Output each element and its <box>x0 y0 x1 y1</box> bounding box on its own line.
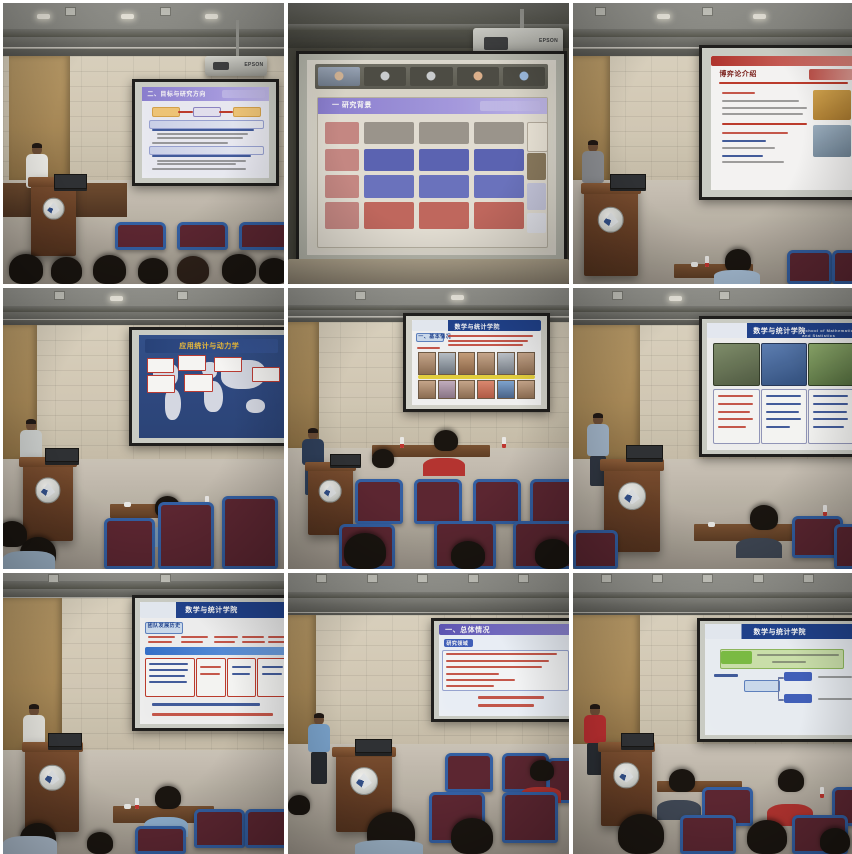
projection-screen: 数学与统计学院 School of Mathematics and Statis… <box>699 316 852 457</box>
podium <box>584 183 637 276</box>
faculty-portrait-row-1 <box>418 352 534 375</box>
meeting-tile <box>410 67 452 85</box>
faculty-portrait-row-2 <box>418 380 534 400</box>
slide-title: 数学与统计学院 <box>753 326 806 336</box>
podium-emblem-icon <box>614 763 639 788</box>
slide-logo <box>222 90 265 98</box>
slide-content: 二、目标与研究方向 <box>142 87 268 178</box>
slide-subtitle: 团队发展历史 <box>148 622 181 629</box>
podium <box>25 742 78 832</box>
laptop <box>621 733 655 750</box>
projection-screen: 一、总体情况 研究领域 <box>431 618 569 722</box>
laptop <box>48 733 82 750</box>
photo-collage-grid: EPSON 二、目标与研究方向 <box>0 0 852 854</box>
slide-content: 应用统计与动力学 <box>139 335 284 438</box>
photo-cell-7[interactable]: 数学与统计学院 团队发展历史 <box>3 573 284 854</box>
laptop <box>626 445 663 462</box>
slide-title: 二、目标与研究方向 <box>147 89 206 98</box>
slide-content: 一、总体情况 研究领域 <box>439 624 570 716</box>
slide-title: 一 研究背景 <box>332 100 372 110</box>
projector: EPSON <box>205 56 267 76</box>
slide-title: 一、总体情况 <box>445 625 490 635</box>
projection-screen: 一 研究背景 <box>296 51 566 265</box>
meeting-tile <box>503 67 545 85</box>
podium <box>23 457 74 541</box>
slide-subtitle: School of Mathematics and Statistics <box>802 328 852 338</box>
projection-screen: 数学与统计学院 一、基本情况 <box>403 313 550 412</box>
photo-cell-9[interactable]: 数学与统计学院 <box>573 573 852 854</box>
projection-screen: 应用统计与动力学 <box>129 327 284 445</box>
slide-content: 博弈论介绍 <box>711 56 852 190</box>
ceiling <box>573 573 852 618</box>
podium-emblem-icon <box>598 207 625 234</box>
highlight-box <box>721 651 752 664</box>
laptop <box>330 454 361 468</box>
wood-wall-panel <box>573 615 640 747</box>
projection-screen: 数学与统计学院 <box>697 618 852 742</box>
meeting-tile-self <box>318 67 360 85</box>
ceiling <box>3 288 284 327</box>
projection-screen: 博弈论介绍 <box>699 45 852 200</box>
slide-content: 数学与统计学院 <box>705 624 852 735</box>
video-meeting-strip <box>315 64 548 89</box>
projection-screen: 二、目标与研究方向 <box>132 79 279 186</box>
photo-cell-8[interactable]: 一、总体情况 研究领域 <box>288 573 569 854</box>
projector-brand: EPSON <box>539 38 558 44</box>
slide-title: 一、基本情况 <box>418 333 451 340</box>
slide-subtitle: 数学与统计学院 <box>454 322 500 331</box>
slide-title: 应用统计与动力学 <box>179 341 239 351</box>
laptop <box>610 174 647 191</box>
ceiling <box>288 573 569 618</box>
slide-title: 数学与统计学院 <box>754 627 807 637</box>
photo-cell-1[interactable]: EPSON 二、目标与研究方向 <box>3 3 284 284</box>
podium-emblem-icon <box>618 483 646 511</box>
photo-cell-4[interactable]: 应用统计与动力学 <box>3 288 284 569</box>
slide-title: 数学与统计学院 <box>185 605 238 615</box>
slide-subtitle: 研究领域 <box>446 640 468 647</box>
projection-screen: 数学与统计学院 团队发展历史 <box>132 595 284 730</box>
laptop <box>54 174 88 191</box>
meeting-tile <box>364 67 406 85</box>
podium-emblem-icon <box>319 480 342 503</box>
podium-emblem-icon <box>35 478 60 503</box>
podium-emblem-icon <box>42 197 65 220</box>
slide-content: 数学与统计学院 School of Mathematics and Statis… <box>707 323 852 450</box>
photo-cell-3[interactable]: 博弈论介绍 <box>573 3 852 284</box>
laptop <box>355 739 392 756</box>
meeting-tile <box>457 67 499 85</box>
photo-cell-6[interactable]: 数学与统计学院 School of Mathematics and Statis… <box>573 288 852 569</box>
podium-emblem-icon <box>39 764 66 791</box>
laptop <box>45 448 79 465</box>
ceiling <box>3 3 284 59</box>
photo-cell-2[interactable]: EPSON 一 研究背景 <box>288 3 569 284</box>
podium-emblem-icon <box>350 767 378 795</box>
projector-mount <box>236 20 239 59</box>
slide-content: 一 研究背景 <box>307 60 555 255</box>
slide-content: 数学与统计学院 团队发展历史 <box>140 602 284 724</box>
slide-content: 数学与统计学院 一、基本情况 <box>412 320 541 405</box>
photo-cell-5[interactable]: 数学与统计学院 一、基本情况 <box>288 288 569 569</box>
slide-title: 博弈论介绍 <box>719 69 757 79</box>
